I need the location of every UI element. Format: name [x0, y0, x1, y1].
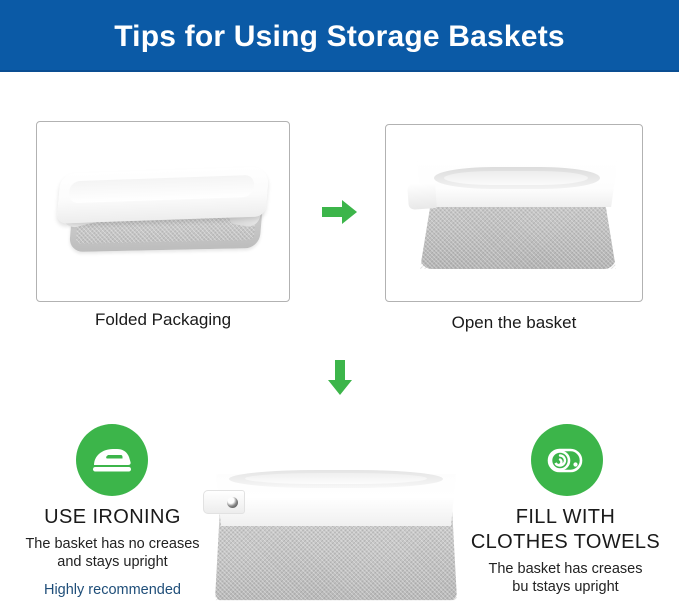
hero-basket-opening-highlight [245, 473, 427, 484]
feature-title-ironing: USE IRONING [0, 505, 225, 530]
arrow-down-icon [327, 360, 353, 396]
open-basket-gray-body [420, 197, 616, 269]
feature-icon-circle-ironing [76, 424, 148, 496]
feature-text-ironing: USE IRONING The basket has no creases an… [0, 505, 225, 599]
feature-subtitle-ironing: The basket has no creases and stays upri… [0, 535, 225, 571]
feature-icon-circle-fill [531, 424, 603, 496]
folded-white-top-layer [56, 166, 269, 223]
header-banner: Tips for Using Storage Baskets [0, 0, 679, 72]
feature-text-fill: FILL WITH CLOTHES TOWELS The basket has … [452, 505, 679, 596]
infographic-page: Tips for Using Storage Baskets Folded Pa… [0, 0, 679, 614]
iron-icon [90, 442, 134, 478]
open-basket-illustration [408, 149, 626, 277]
photo-frame-folded-packaging [36, 121, 290, 302]
hero-basket-handle [203, 490, 245, 514]
feature-note-highly-recommended: Highly recommended [0, 581, 225, 599]
hero-basket-illustration [205, 468, 467, 604]
arrow-right-icon [322, 199, 358, 225]
caption-open-basket: Open the basket [385, 312, 643, 334]
photo-frame-open-basket [385, 124, 643, 302]
feature-subtitle-fill: The basket has creases bu tstays upright [452, 560, 679, 596]
folded-basket-illustration [53, 158, 275, 268]
hero-basket-grommet [227, 497, 238, 508]
open-basket-handle [407, 182, 437, 210]
page-title: Tips for Using Storage Baskets [0, 20, 679, 54]
feature-title-fill: FILL WITH CLOTHES TOWELS [452, 505, 679, 555]
caption-folded-packaging: Folded Packaging [36, 309, 290, 331]
open-basket-interior-highlight [444, 171, 588, 185]
rolled-towel-icon [545, 442, 589, 478]
